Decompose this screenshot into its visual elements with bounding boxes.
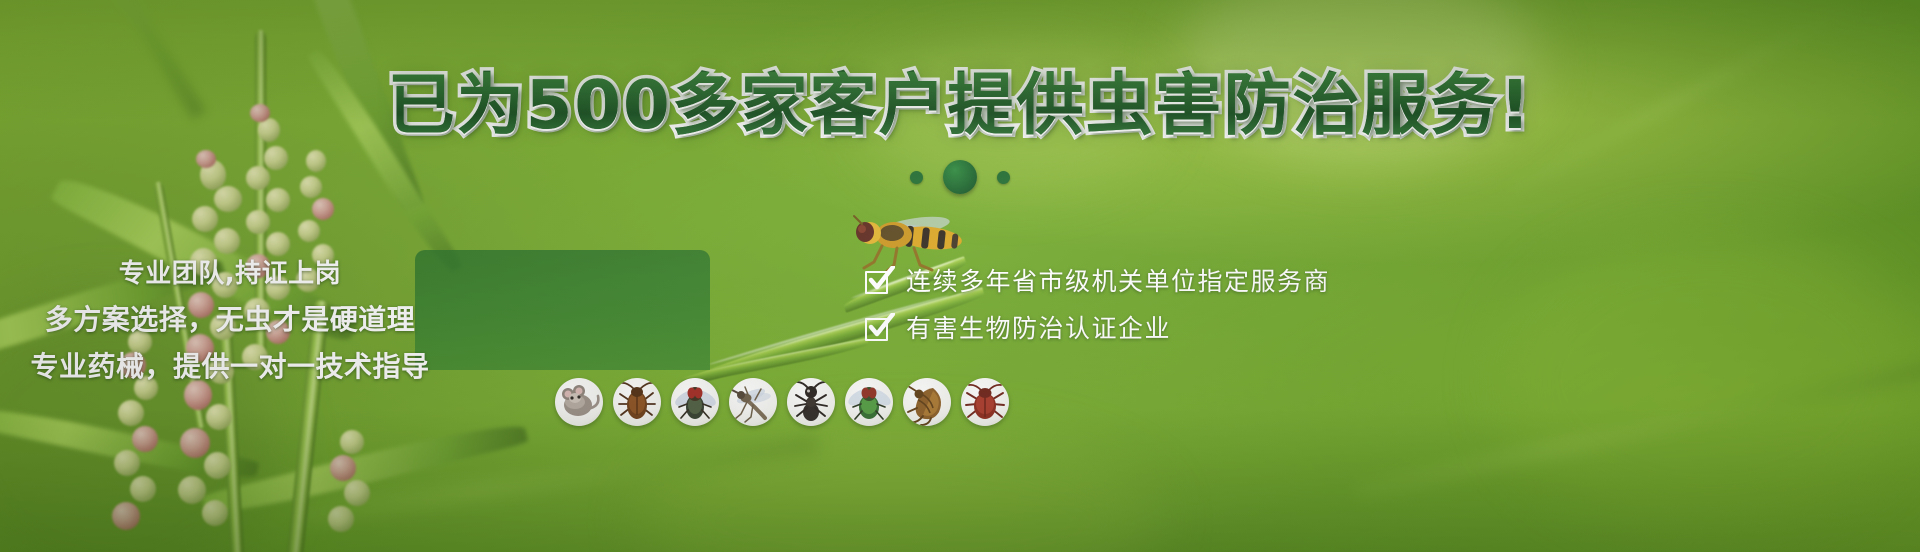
background-vignette: [0, 0, 1920, 552]
promo-banner: 已为500多家客户提供虫害防治服务! 已为500多家客户提供虫害防治服务! 专业…: [0, 0, 1920, 552]
